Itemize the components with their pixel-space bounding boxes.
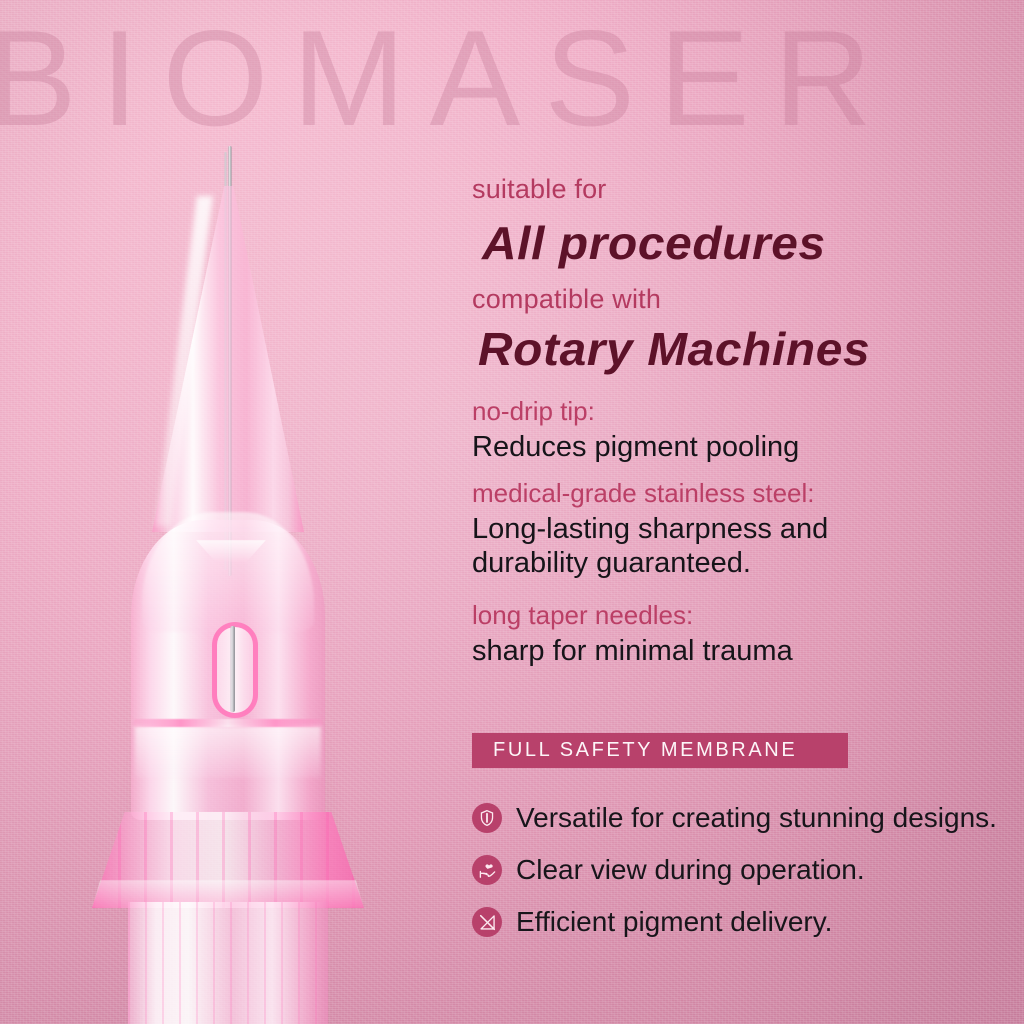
headline-all-procedures: All procedures	[482, 216, 826, 270]
feature-body-stainless-steel: Long-lasting sharpness and durability gu…	[472, 512, 828, 580]
benefit-item-pigment-delivery: Efficient pigment delivery.	[472, 896, 1024, 948]
copy-column: suitable for All procedures compatible w…	[470, 0, 1024, 1024]
eyebrow-compatible-with: compatible with	[472, 284, 661, 315]
feature-body-long-taper: sharp for minimal trauma	[472, 634, 793, 668]
eyebrow-suitable-for: suitable for	[472, 174, 606, 205]
feature-body-no-drip-tip: Reduces pigment pooling	[472, 430, 799, 464]
benefit-item-versatile: Versatile for creating stunning designs.	[472, 792, 1024, 844]
benefit-text: Efficient pigment delivery.	[516, 906, 832, 938]
hand-heart-icon	[472, 855, 502, 885]
full-safety-membrane-banner: FULL SAFETY MEMBRANE	[472, 733, 848, 768]
product-marketing-card: BIOMASER suitable for All procedures com…	[0, 0, 1024, 1024]
benefit-text: Versatile for creating stunning designs.	[516, 802, 997, 834]
benefits-list: Versatile for creating stunning designs.…	[472, 792, 1024, 948]
pen-nib-icon	[472, 907, 502, 937]
feature-label-stainless-steel: medical-grade stainless steel:	[472, 478, 815, 509]
headline-rotary-machines: Rotary Machines	[478, 322, 870, 376]
feature-label-no-drip-tip: no-drip tip:	[472, 396, 595, 427]
feature-label-long-taper: long taper needles:	[472, 600, 693, 631]
benefit-item-clear-view: Clear view during operation.	[472, 844, 1024, 896]
banner-title: FULL SAFETY MEMBRANE	[472, 739, 797, 762]
benefit-text: Clear view during operation.	[516, 854, 865, 886]
shield-icon	[472, 803, 502, 833]
